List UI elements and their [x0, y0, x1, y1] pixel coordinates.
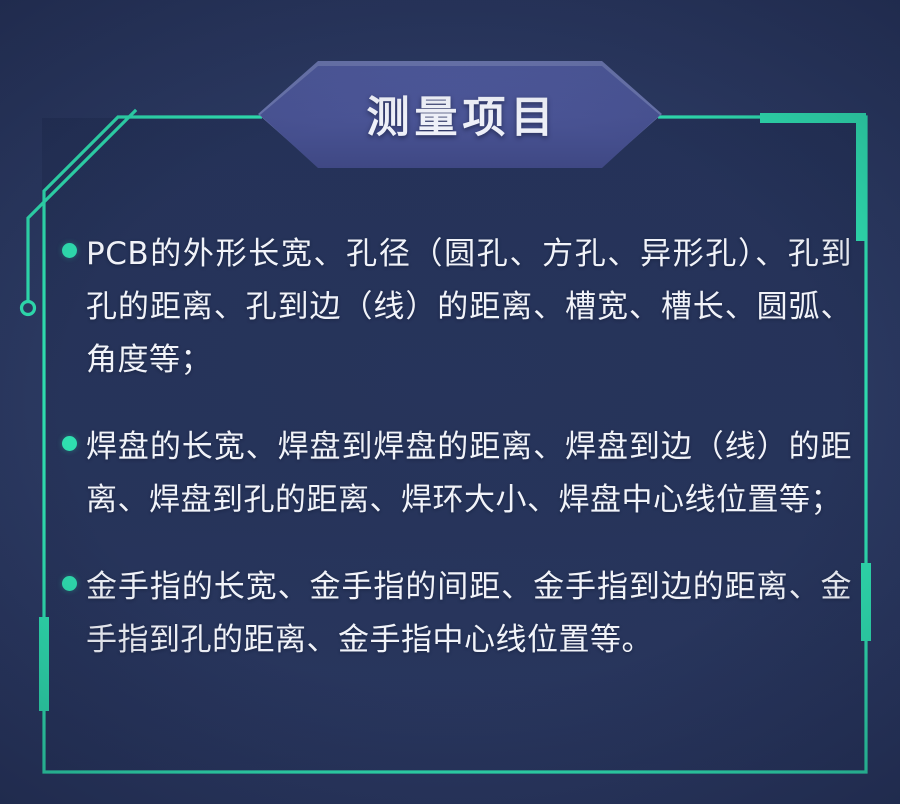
- list-item-text: PCB的外形长宽、孔径（圆孔、方孔、异形孔）、孔到孔的距离、孔到边（线）的距离、…: [86, 228, 852, 387]
- bullet-dot-icon: [62, 243, 77, 258]
- list-item-text: 焊盘的长宽、焊盘到焊盘的距离、焊盘到边（线）的距离、焊盘到孔的距离、焊环大小、焊…: [86, 421, 852, 527]
- bullet-dot-icon: [62, 436, 77, 451]
- slide-canvas: 测量项目 PCB的外形长宽、孔径（圆孔、方孔、异形孔）、孔到孔的距离、孔到边（线…: [0, 0, 900, 804]
- list-item: 金手指的长宽、金手指的间距、金手指到边的距离、金手指到孔的距离、金手指中心线位置…: [62, 561, 852, 667]
- accent-bar-right-icon: [861, 563, 871, 641]
- accent-bar-left-icon: [39, 617, 49, 711]
- list-item: 焊盘的长宽、焊盘到焊盘的距离、焊盘到边（线）的距离、焊盘到孔的距离、焊环大小、焊…: [62, 421, 852, 527]
- banner-title-text: 测量项目: [258, 58, 662, 170]
- list-item-text: 金手指的长宽、金手指的间距、金手指到边的距离、金手指到孔的距离、金手指中心线位置…: [86, 561, 852, 667]
- circle-node-icon: [22, 302, 35, 315]
- corner-bracket-icon: [760, 113, 866, 241]
- list-item: PCB的外形长宽、孔径（圆孔、方孔、异形孔）、孔到孔的距离、孔到边（线）的距离、…: [62, 228, 852, 387]
- title-banner: 测量项目: [258, 58, 662, 170]
- bullet-list: PCB的外形长宽、孔径（圆孔、方孔、异形孔）、孔到孔的距离、孔到边（线）的距离、…: [62, 228, 852, 701]
- bullet-dot-icon: [62, 576, 77, 591]
